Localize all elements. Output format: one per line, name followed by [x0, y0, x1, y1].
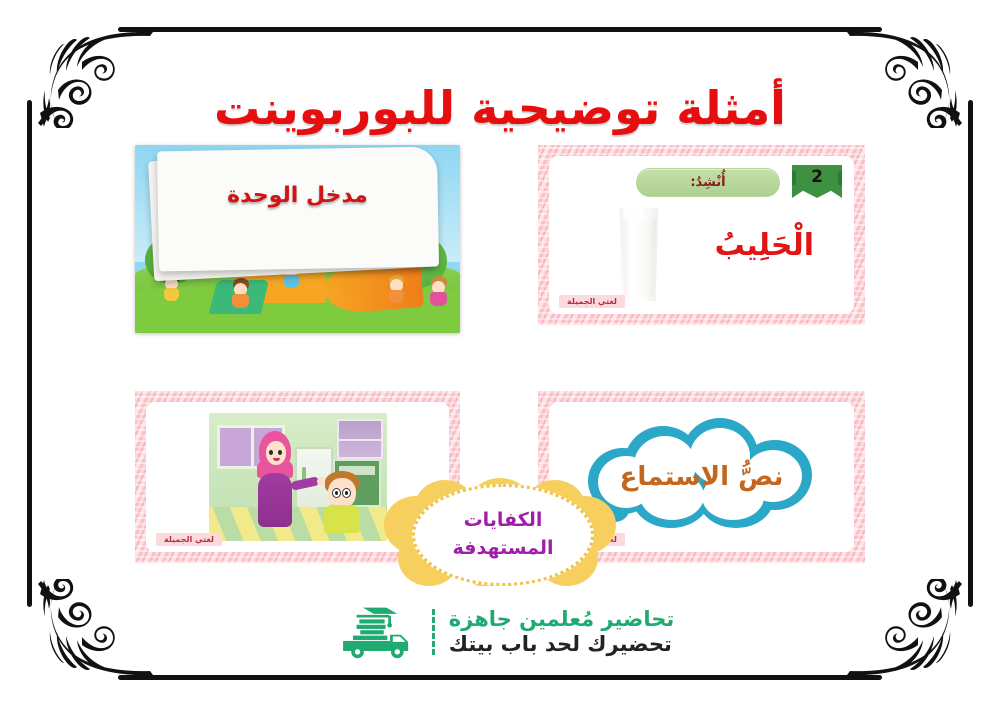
slide-heading-unit-intro: مدخل الوحدة	[135, 183, 460, 208]
footer-brand-logo: تحاضير مُعلمين جاهزة تحضيرك لحد باب بيتك	[0, 597, 1000, 667]
boy-figure	[319, 471, 365, 533]
child-figure	[428, 276, 450, 310]
playground-illustration: مدخل الوحدة	[135, 145, 460, 333]
delivery-truck-icon	[326, 604, 418, 660]
page-title: أمثلة توضيحية للبوربوينت	[0, 83, 1000, 134]
curriculum-tag: لغتي الجميلة	[559, 295, 625, 308]
child-figure	[386, 275, 408, 307]
frame-bottom-line	[118, 675, 882, 680]
kitchen-illustration	[209, 413, 387, 541]
paper-sheet-front	[157, 146, 439, 271]
cabinet-icon	[337, 419, 383, 459]
slide-thumbnail-unit-intro[interactable]: مدخل الوحدة	[135, 145, 460, 333]
slides-grid: مدخل الوحدة أُنْشِدُ: 2 الْحَلِيبُ لغتي …	[60, 140, 940, 585]
frame-left-line	[27, 100, 32, 607]
logo-divider	[432, 609, 435, 655]
vocabulary-word-milk: الْحَلِيبُ	[715, 228, 814, 263]
glass-of-milk-image	[617, 208, 661, 301]
logo-text-block: تحاضير مُعلمين جاهزة تحضيرك لحد باب بيتك	[449, 607, 674, 657]
mother-figure	[249, 431, 301, 527]
poster-page: أمثلة توضيحية للبوربوينت	[0, 0, 1000, 707]
listening-text-label: نصُّ الاستماع	[586, 462, 818, 492]
competencies-flower-badge[interactable]: الكفايات المستهدفة	[384, 478, 616, 586]
competencies-line1: الكفايات	[464, 507, 543, 535]
pink-calligraphy-frame: أُنْشِدُ: 2 الْحَلِيبُ لغتي الجميلة	[538, 145, 865, 325]
curriculum-tag: لغتي الجميلة	[156, 533, 222, 546]
lesson-number-badge: 2	[792, 165, 842, 198]
child-figure	[229, 278, 253, 314]
slide-thumbnail-milk-song[interactable]: أُنْشِدُ: 2 الْحَلِيبُ لغتي الجميلة	[538, 145, 865, 325]
logo-tagline-secondary: تحضيرك لحد باب بيتك	[449, 632, 672, 657]
logo-tagline-primary: تحاضير مُعلمين جاهزة	[449, 607, 674, 632]
lesson-number-text: 2	[811, 165, 823, 187]
competencies-line2: المستهدفة	[453, 535, 554, 563]
frame-right-line	[968, 100, 973, 607]
anshid-pill-label: أُنْشِدُ:	[636, 168, 780, 197]
competencies-label-oval: الكفايات المستهدفة	[412, 484, 594, 586]
speech-cloud-shape: نصُّ الاستماع	[586, 418, 818, 536]
frame-top-line	[118, 27, 882, 32]
